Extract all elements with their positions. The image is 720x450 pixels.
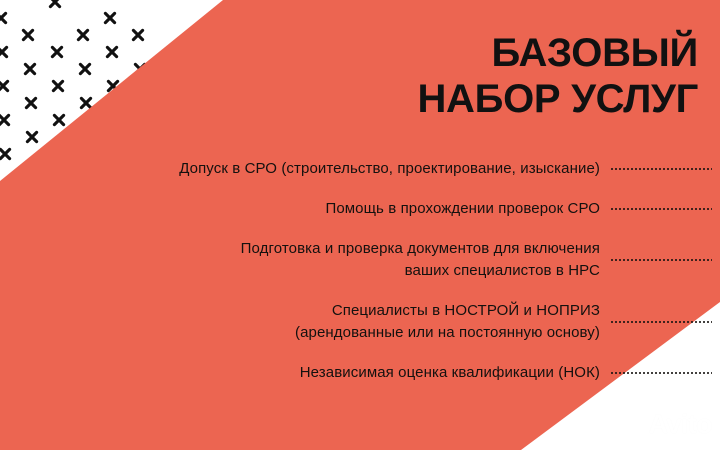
dotted-leader: [610, 259, 712, 261]
service-line: (арендованные или на постоянную основу): [0, 322, 600, 344]
dotted-leader: [610, 321, 712, 323]
avito-wordmark: Avito: [649, 411, 713, 438]
title-line-1: БАЗОВЫЙ: [218, 30, 698, 76]
dotted-leader: [610, 208, 712, 210]
avito-circles-icon: [619, 412, 645, 438]
list-item: Помощь в прохождении проверок СРО: [0, 198, 720, 220]
avito-watermark: Avito: [619, 411, 713, 438]
service-label-pomosch-proverki-sro: Помощь в прохождении проверок СРО: [0, 198, 600, 220]
list-item: Допуск в СРО (строительство, проектирова…: [0, 158, 720, 180]
page-title: БАЗОВЫЙ НАБОР УСЛУГ: [218, 30, 698, 122]
list-item: Независимая оценка квалификации (НОК): [0, 362, 720, 384]
dotted-leader: [610, 168, 712, 170]
service-line: Независимая оценка квалификации (НОК): [0, 362, 600, 384]
list-item: Подготовка и проверка документов для вкл…: [0, 238, 720, 282]
dotted-leader: [610, 372, 712, 374]
service-line: Помощь в прохождении проверок СРО: [0, 198, 600, 220]
service-label-podgotovka-dokumentov-nrs: Подготовка и проверка документов для вкл…: [0, 238, 600, 282]
promo-banner: БАЗОВЫЙ НАБОР УСЛУГ Допуск в СРО (строит…: [0, 0, 720, 450]
services-list: Допуск в СРО (строительство, проектирова…: [0, 158, 720, 402]
service-line: Специалисты в НОСТРОЙ и НОПРИЗ: [0, 300, 600, 322]
service-line: ваших специалистов в НРС: [0, 260, 600, 282]
service-label-dopusk-sro: Допуск в СРО (строительство, проектирова…: [0, 158, 600, 180]
service-line: Подготовка и проверка документов для вкл…: [0, 238, 600, 260]
service-label-nezavisimaya-ocenka-nok: Независимая оценка квалификации (НОК): [0, 362, 600, 384]
list-item: Специалисты в НОСТРОЙ и НОПРИЗ (арендова…: [0, 300, 720, 344]
title-line-2: НАБОР УСЛУГ: [218, 76, 698, 122]
service-label-specialisty-nostroy-nopriz: Специалисты в НОСТРОЙ и НОПРИЗ (арендова…: [0, 300, 600, 344]
service-line: Допуск в СРО (строительство, проектирова…: [0, 158, 600, 180]
